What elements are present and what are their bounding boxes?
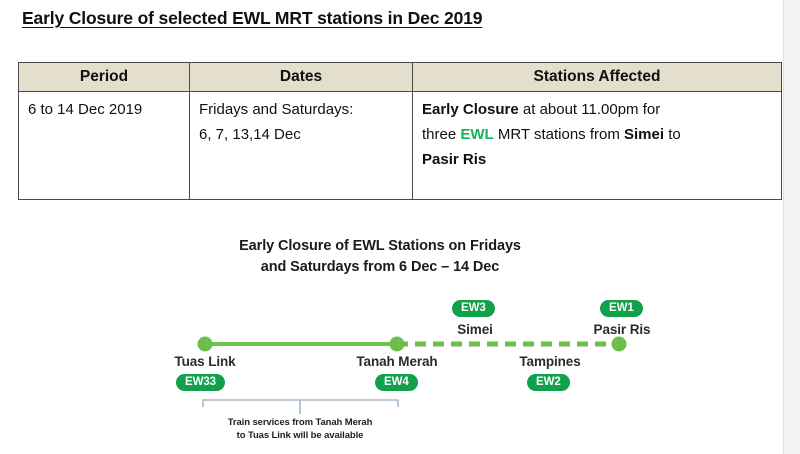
column-header-period: Period [19,63,190,92]
station-dot-tanah-merah [390,337,405,352]
stations-simei-bold: Simei [624,126,664,143]
station-label-pasir-ris: Pasir Ris [577,322,667,337]
availability-note: Train services from Tanah Merah to Tuas … [200,416,400,442]
availability-note-line-1: Train services from Tanah Merah [200,416,400,429]
station-dot-pasir-ris [612,337,627,352]
line-diagram: Early Closure of EWL Stations on Fridays… [0,222,784,454]
table-row: 6 to 14 Dec 2019 Fridays and Saturdays: … [19,92,782,200]
stations-text-4: to [664,126,681,143]
column-header-dates: Dates [190,63,413,92]
dates-line-2: 6, 7, 13,14 Dec [199,126,301,143]
station-code-ew3: EW3 [452,300,495,317]
station-label-tampines: Tampines [500,354,600,369]
stations-text-1: at about 11.00pm for [519,101,660,118]
station-code-ew4: EW4 [375,374,418,391]
station-label-simei: Simei [430,322,520,337]
page-right-margin [783,0,800,454]
availability-note-line-2: to Tuas Link will be available [200,429,400,442]
cell-dates: Fridays and Saturdays: 6, 7, 13,14 Dec [190,92,413,200]
page-title: Early Closure of selected EWL MRT statio… [22,8,482,29]
table-header-row: Period Dates Stations Affected [19,63,782,92]
stations-ewl-label: EWL [460,126,493,143]
dates-line-1: Fridays and Saturdays: [199,101,353,118]
cell-stations-affected: Early Closure at about 11.00pm for three… [413,92,782,200]
station-label-tuas-link: Tuas Link [155,354,255,369]
station-code-ew2: EW2 [527,374,570,391]
station-code-ew1: EW1 [600,300,643,317]
station-dot-tuas-link [198,337,213,352]
stations-early-closure-bold: Early Closure [422,101,519,118]
stations-text-2: three [422,126,460,143]
stations-text-3: MRT stations from [494,126,624,143]
stations-pasir-ris-bold: Pasir Ris [422,151,486,168]
column-header-stations-affected: Stations Affected [413,63,782,92]
station-label-tanah-merah: Tanah Merah [337,354,457,369]
closure-info-table: Period Dates Stations Affected 6 to 14 D… [18,62,782,200]
cell-period: 6 to 14 Dec 2019 [19,92,190,200]
station-code-ew33: EW33 [176,374,225,391]
document-sheet: Early Closure of selected EWL MRT statio… [0,0,784,454]
